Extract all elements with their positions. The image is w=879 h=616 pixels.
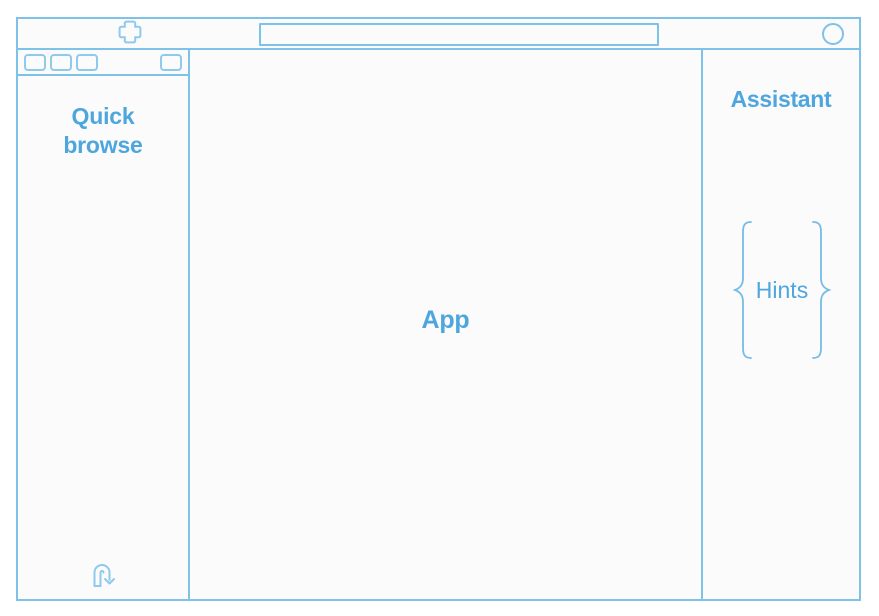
assistant-panel: Assistant Hints	[703, 50, 859, 599]
sidebar-content: Quick browse	[18, 76, 188, 599]
quick-browse-title: Quick browse	[18, 102, 188, 161]
sidebar-tool-2[interactable]	[50, 54, 72, 71]
hints-label: Hints	[754, 277, 810, 304]
app-window-frame: Quick browse App	[16, 17, 861, 601]
sidebar-tool-collapse[interactable]	[160, 54, 182, 71]
sidebar-toolbar	[18, 50, 188, 76]
app-content-area[interactable]: App	[190, 50, 703, 599]
u-turn-arrow-icon[interactable]	[88, 559, 122, 589]
hints-open-brace-icon	[732, 220, 754, 360]
sidebar-tool-1[interactable]	[24, 54, 46, 71]
sidebar-tool-3[interactable]	[76, 54, 98, 71]
new-tab-button[interactable]	[98, 19, 162, 48]
address-input[interactable]	[259, 23, 659, 46]
browser-top-bar	[18, 19, 859, 50]
plus-icon	[117, 18, 143, 49]
app-label: App	[422, 306, 470, 335]
sidebar-panel: Quick browse	[18, 50, 190, 599]
hints-close-brace-icon	[810, 220, 832, 360]
screenshot-root: Quick browse App	[0, 0, 879, 616]
quick-browse-title-line-2: browse	[28, 131, 178, 160]
window-body: Quick browse App	[18, 50, 859, 599]
hints-group: Hints	[711, 220, 853, 360]
account-circle-icon[interactable]	[822, 23, 844, 45]
quick-browse-title-line-1: Quick	[28, 102, 178, 131]
assistant-title: Assistant	[703, 86, 859, 113]
